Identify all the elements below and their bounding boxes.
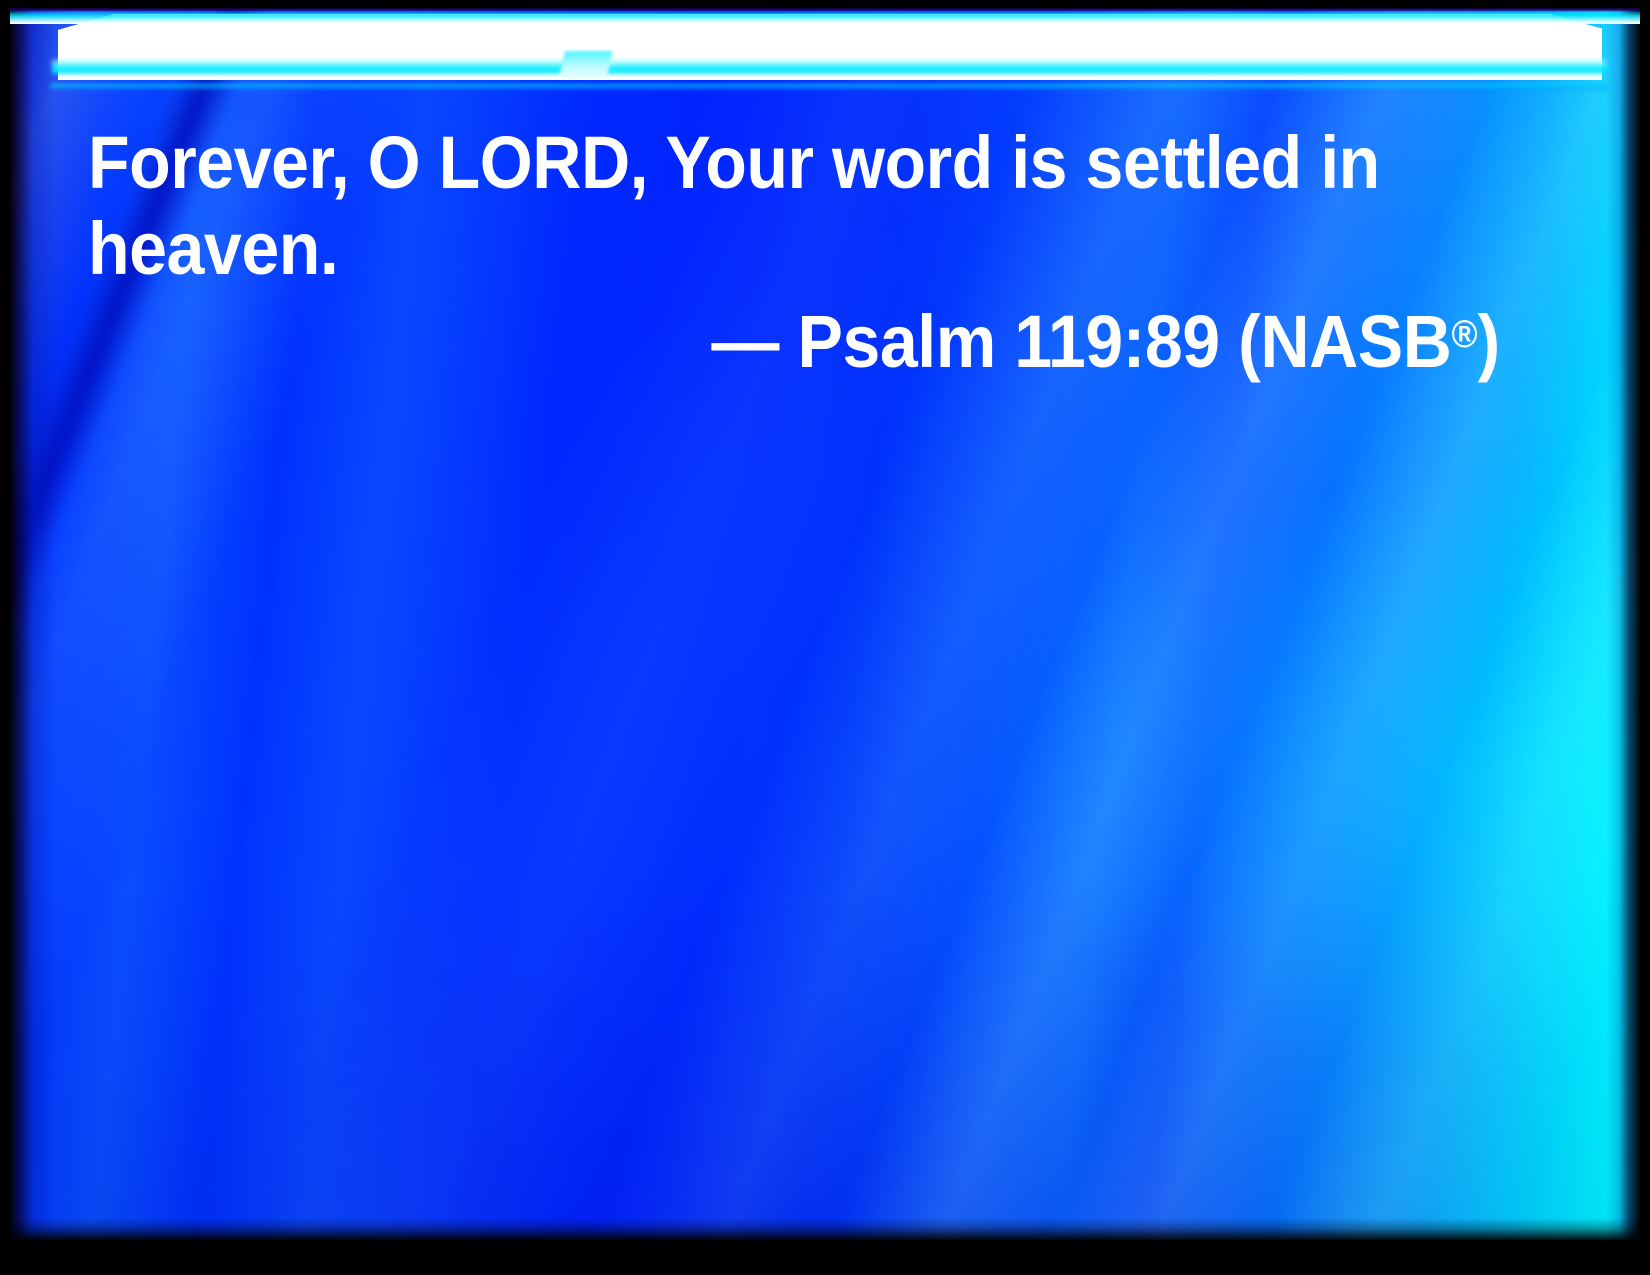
registered-trademark-icon: ® (1451, 313, 1477, 356)
citation-closing-paren: ) (1478, 300, 1500, 383)
citation-reference: — Psalm 119:89 (NASB (711, 300, 1451, 383)
verse-text: Forever, O LORD, Your word is settled in… (88, 120, 1405, 292)
slide-frame: Forever, O LORD, Your word is settled in… (0, 0, 1650, 1275)
verse-block: Forever, O LORD, Your word is settled in… (88, 120, 1520, 385)
slide-background-canvas: Forever, O LORD, Your word is settled in… (10, 8, 1640, 1240)
verse-citation: — Psalm 119:89 (NASB®) (203, 292, 1520, 385)
